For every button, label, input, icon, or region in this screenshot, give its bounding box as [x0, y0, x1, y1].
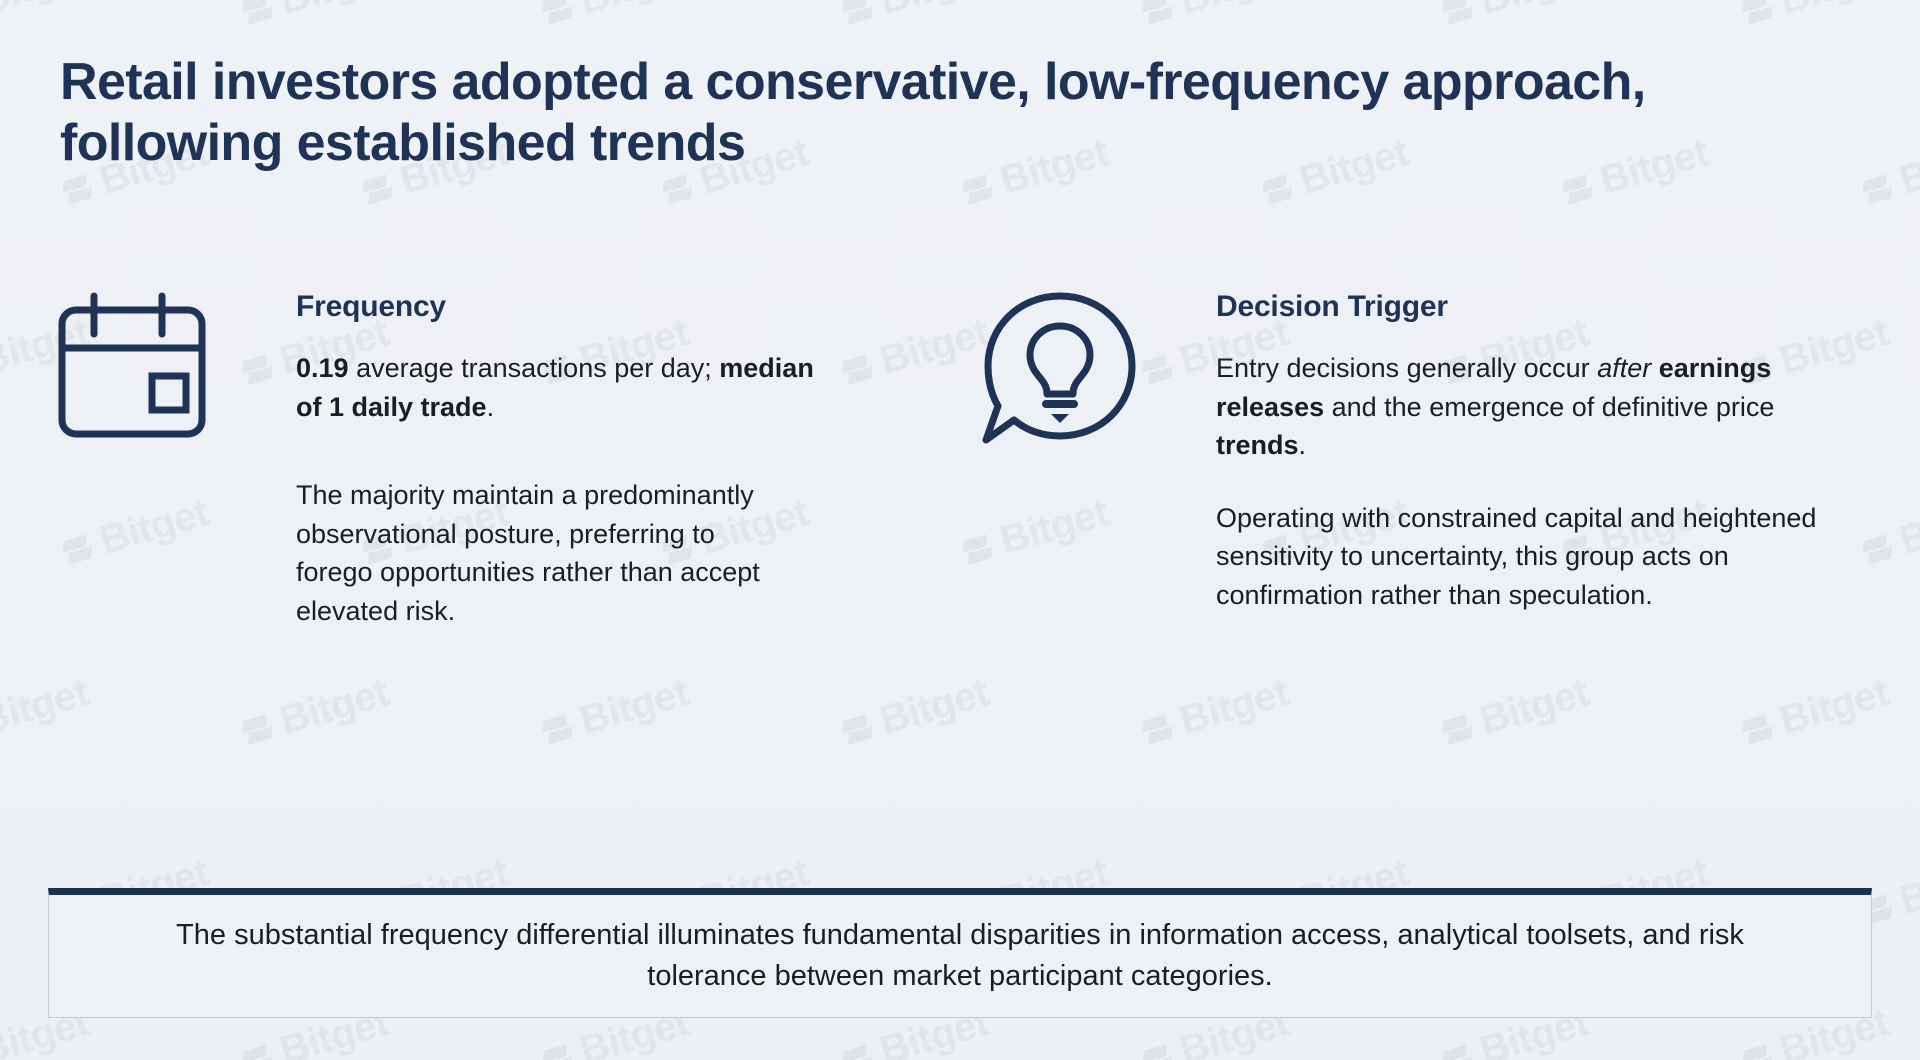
watermark-label: Bitget — [275, 0, 393, 24]
infographic-slide: BitgetBitgetBitgetBitgetBitgetBitgetBitg… — [0, 0, 1920, 1060]
decision-trigger-detail-paragraph: Operating with constrained capital and h… — [1216, 499, 1846, 615]
watermark-label: Bitget — [1175, 670, 1293, 744]
watermark-label: Bitget — [1895, 130, 1920, 204]
section-heading-decision-trigger: Decision Trigger — [1216, 290, 1866, 323]
brand-watermark: Bitget — [237, 0, 394, 35]
bitget-logo-icon — [959, 171, 996, 208]
bitget-logo-icon — [1739, 0, 1776, 28]
watermark-label: Bitget — [1775, 0, 1893, 24]
bitget-logo-icon — [239, 711, 276, 748]
column-decision-trigger: Decision Trigger Entry decisions general… — [976, 290, 1866, 615]
watermark-label: Bitget — [875, 0, 993, 24]
frequency-detail-paragraph: The majority maintain a predominantly ob… — [296, 476, 766, 630]
watermark-label: Bitget — [0, 670, 94, 744]
callout-text: The substantial frequency differential i… — [120, 915, 1800, 997]
lightbulb-speech-bubble-icon — [976, 290, 1146, 460]
brand-watermark: Bitget — [237, 670, 394, 755]
bitget-logo-icon — [239, 0, 276, 28]
section-heading-frequency: Frequency — [296, 290, 896, 323]
bitget-logo-icon — [1739, 711, 1776, 748]
bitget-logo-icon — [1559, 171, 1596, 208]
bitget-logo-icon — [1259, 171, 1296, 208]
bitget-logo-icon — [1439, 0, 1476, 28]
watermark-label: Bitget — [1895, 850, 1920, 924]
bitget-logo-icon — [1139, 1041, 1176, 1060]
bitget-logo-icon — [1139, 711, 1176, 748]
bitget-logo-icon — [1739, 1041, 1776, 1060]
watermark-label: Bitget — [575, 0, 693, 24]
bitget-logo-icon — [1439, 711, 1476, 748]
watermark-label: Bitget — [1895, 490, 1920, 564]
bitget-logo-icon — [1859, 171, 1896, 208]
page-title: Retail investors adopted a conservative,… — [60, 52, 1850, 174]
brand-watermark: Bitget — [1137, 670, 1294, 755]
watermark-label: Bitget — [1775, 670, 1893, 744]
brand-watermark: Bitget — [1137, 0, 1294, 35]
bitget-logo-icon — [539, 711, 576, 748]
bitget-logo-icon — [839, 711, 876, 748]
brand-watermark: Bitget — [837, 0, 994, 35]
brand-watermark: Bitget — [1857, 130, 1920, 215]
brand-watermark: Bitget — [537, 0, 694, 35]
bitget-logo-icon — [539, 1041, 576, 1060]
watermark-label: Bitget — [1175, 0, 1293, 24]
column-frequency: Frequency 0.19 average transactions per … — [56, 290, 896, 631]
brand-watermark: Bitget — [1737, 0, 1894, 35]
calendar-icon — [56, 290, 226, 460]
bitget-logo-icon — [539, 0, 576, 28]
brand-watermark: Bitget — [1737, 670, 1894, 755]
bitget-logo-icon — [359, 171, 396, 208]
watermark-label: Bitget — [875, 670, 993, 744]
watermark-label: Bitget — [275, 670, 393, 744]
brand-watermark: Bitget — [537, 670, 694, 755]
callout-box: The substantial frequency differential i… — [48, 888, 1872, 1018]
watermark-label: Bitget — [575, 670, 693, 744]
brand-watermark: Bitget — [1857, 490, 1920, 575]
brand-watermark: Bitget — [837, 670, 994, 755]
watermark-label: Bitget — [0, 0, 94, 24]
bitget-logo-icon — [239, 1041, 276, 1060]
brand-watermark: Bitget — [0, 0, 94, 35]
bitget-logo-icon — [1139, 0, 1176, 28]
bitget-logo-icon — [1439, 1041, 1476, 1060]
watermark-label: Bitget — [1475, 0, 1593, 24]
bitget-logo-icon — [839, 1041, 876, 1060]
watermark-label: Bitget — [1475, 670, 1593, 744]
brand-watermark: Bitget — [0, 670, 94, 755]
bitget-logo-icon — [659, 171, 696, 208]
brand-watermark: Bitget — [1437, 0, 1594, 35]
bitget-logo-icon — [59, 171, 96, 208]
frequency-stat-paragraph: 0.19 average transactions per day; media… — [296, 349, 826, 426]
brand-watermark: Bitget — [1437, 670, 1594, 755]
decision-trigger-paragraph: Entry decisions generally occur after ea… — [1216, 349, 1806, 465]
bitget-logo-icon — [839, 0, 876, 28]
